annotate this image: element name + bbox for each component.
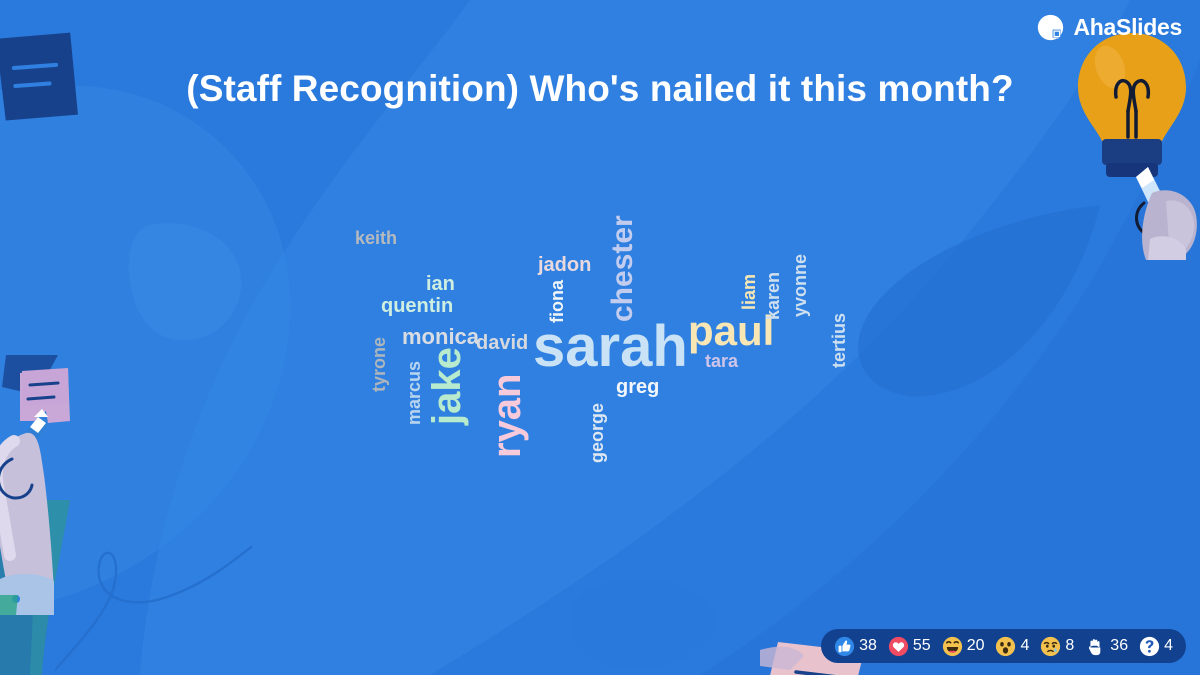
page-title: (Staff Recognition) Who's nailed it this… [0,68,1200,111]
sad-face-icon [1040,636,1061,657]
word-cloud-item: greg [616,377,659,397]
word-cloud-item: chester [608,215,638,322]
word-cloud-item: ian [426,274,455,294]
heart-icon [888,636,909,657]
word-cloud-item: yvonne [791,254,809,317]
reaction-count: 38 [859,638,877,654]
reaction-bar[interactable]: 38552048364 [821,629,1186,663]
word-cloud-item: david [476,333,528,353]
word-cloud-item: keith [355,229,397,247]
question-mark-icon [1139,636,1160,657]
word-cloud-item: fiona [548,280,566,323]
swirl-svg [55,515,325,675]
ahaslides-logo: AhaSlides [1037,14,1182,41]
thumbs-up-icon [834,636,855,657]
word-cloud-item: tyrone [370,337,388,392]
reaction-laughing[interactable]: 20 [942,636,985,657]
reaction-count: 4 [1164,638,1173,654]
word-cloud-item: ryan [487,374,527,459]
word-cloud-item: tara [705,352,738,370]
word-cloud-item: quentin [381,296,453,316]
hand-holding-pen-icon [0,355,166,615]
reaction-count: 20 [967,638,985,654]
surprised-face-icon [995,636,1016,657]
reaction-raise-hand[interactable]: 36 [1085,636,1128,657]
word-cloud-item: marcus [405,361,423,425]
word-cloud-item: jake [427,347,467,425]
word-cloud-item: sarah [533,318,688,376]
word-cloud-item: liam [740,274,758,310]
lightbulb-icon [1070,25,1200,260]
word-cloud-item: monica [402,326,479,348]
word-cloud-item: george [588,403,606,463]
word-cloud-item: jadon [538,255,591,275]
reaction-question[interactable]: 4 [1139,636,1173,657]
reaction-heart[interactable]: 55 [888,636,931,657]
reaction-count: 8 [1065,638,1074,654]
word-cloud-item: tertius [830,313,848,368]
brand-name: AhaSlides [1073,16,1182,39]
laughing-face-icon [942,636,963,657]
word-cloud-item: karen [764,272,782,320]
hand-pen-svg [0,355,166,615]
reaction-count: 36 [1110,638,1128,654]
reaction-sad[interactable]: 8 [1040,636,1074,657]
lightbulb-svg [1070,25,1200,260]
slide-canvas: AhaSlides (Staff Recognition) Who's nail… [0,0,1200,675]
reaction-thumbs-up[interactable]: 38 [834,636,877,657]
ahaslides-logo-icon [1037,14,1064,41]
reaction-surprised[interactable]: 4 [995,636,1029,657]
raised-hand-icon [1085,636,1106,657]
swirl-line-icon [55,515,325,675]
reaction-count: 4 [1020,638,1029,654]
word-cloud-item: paul [688,310,774,352]
reaction-count: 55 [913,638,931,654]
